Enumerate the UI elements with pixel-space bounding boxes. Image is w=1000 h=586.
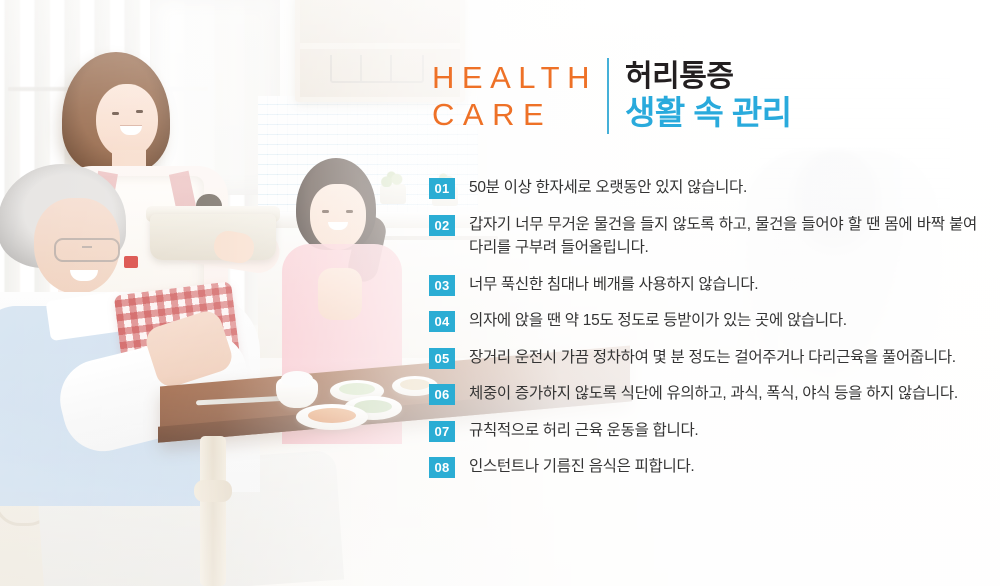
headline-divider xyxy=(607,58,609,134)
item-number-badge: 08 xyxy=(429,457,455,478)
brand-lockup: HEALTH CARE xyxy=(432,62,597,130)
item-number-badge: 04 xyxy=(429,311,455,332)
item-text: 50분 이상 한자세로 오랫동안 있지 않습니다. xyxy=(469,176,977,200)
banner-root: HEALTH CARE 허리통증 생활 속 관리 01 50분 이상 한자세로 … xyxy=(0,0,1000,586)
item-text: 인스턴트나 기름진 음식은 피합니다. xyxy=(469,455,977,479)
item-text: 너무 푹신한 침대나 베개를 사용하지 않습니다. xyxy=(469,273,977,297)
list-item: 05 장거리 운전시 가끔 정차하여 몇 분 정도는 걸어주거나 다리근육을 풀… xyxy=(429,346,977,370)
item-text: 장거리 운전시 가끔 정차하여 몇 분 정도는 걸어주거나 다리근육을 풀어줍니… xyxy=(469,346,977,370)
list-item: 06 체중이 증가하지 않도록 식단에 유의하고, 과식, 폭식, 야식 등을 … xyxy=(429,382,977,406)
title-line-1: 허리통증 xyxy=(625,61,792,93)
list-item: 02 갑자기 너무 무거운 물건을 들지 않도록 하고, 물건을 들어야 할 땐… xyxy=(429,213,977,260)
brand-health: HEALTH xyxy=(432,62,597,93)
list-item: 07 규칙적으로 허리 근육 운동을 합니다. xyxy=(429,419,977,443)
item-number-badge: 06 xyxy=(429,384,455,405)
title-line-2: 생활 속 관리 xyxy=(625,96,792,131)
list-item: 04 의자에 앉을 땐 약 15도 정도로 등받이가 있는 곳에 앉습니다. xyxy=(429,309,977,333)
list-item: 08 인스턴트나 기름진 음식은 피합니다. xyxy=(429,455,977,479)
list-item: 03 너무 푹신한 침대나 베개를 사용하지 않습니다. xyxy=(429,273,977,297)
item-text: 규칙적으로 허리 근육 운동을 합니다. xyxy=(469,419,977,443)
item-number-badge: 02 xyxy=(429,215,455,236)
brand-care: CARE xyxy=(432,99,597,130)
content-layer: HEALTH CARE 허리통증 생활 속 관리 01 50분 이상 한자세로 … xyxy=(0,0,1000,586)
tips-list: 01 50분 이상 한자세로 오랫동안 있지 않습니다. 02 갑자기 너무 무… xyxy=(429,176,977,479)
item-text: 체중이 증가하지 않도록 식단에 유의하고, 과식, 폭식, 야식 등을 하지 … xyxy=(469,382,977,406)
item-text: 의자에 앉을 땐 약 15도 정도로 등받이가 있는 곳에 앉습니다. xyxy=(469,309,977,333)
item-number-badge: 07 xyxy=(429,421,455,442)
item-number-badge: 03 xyxy=(429,275,455,296)
item-number-badge: 05 xyxy=(429,348,455,369)
list-item: 01 50분 이상 한자세로 오랫동안 있지 않습니다. xyxy=(429,176,977,200)
item-text: 갑자기 너무 무거운 물건을 들지 않도록 하고, 물건을 들어야 할 땐 몸에… xyxy=(469,213,977,260)
headline: HEALTH CARE 허리통증 생활 속 관리 xyxy=(432,58,792,134)
item-number-badge: 01 xyxy=(429,178,455,199)
title-lockup: 허리통증 생활 속 관리 xyxy=(625,61,792,131)
